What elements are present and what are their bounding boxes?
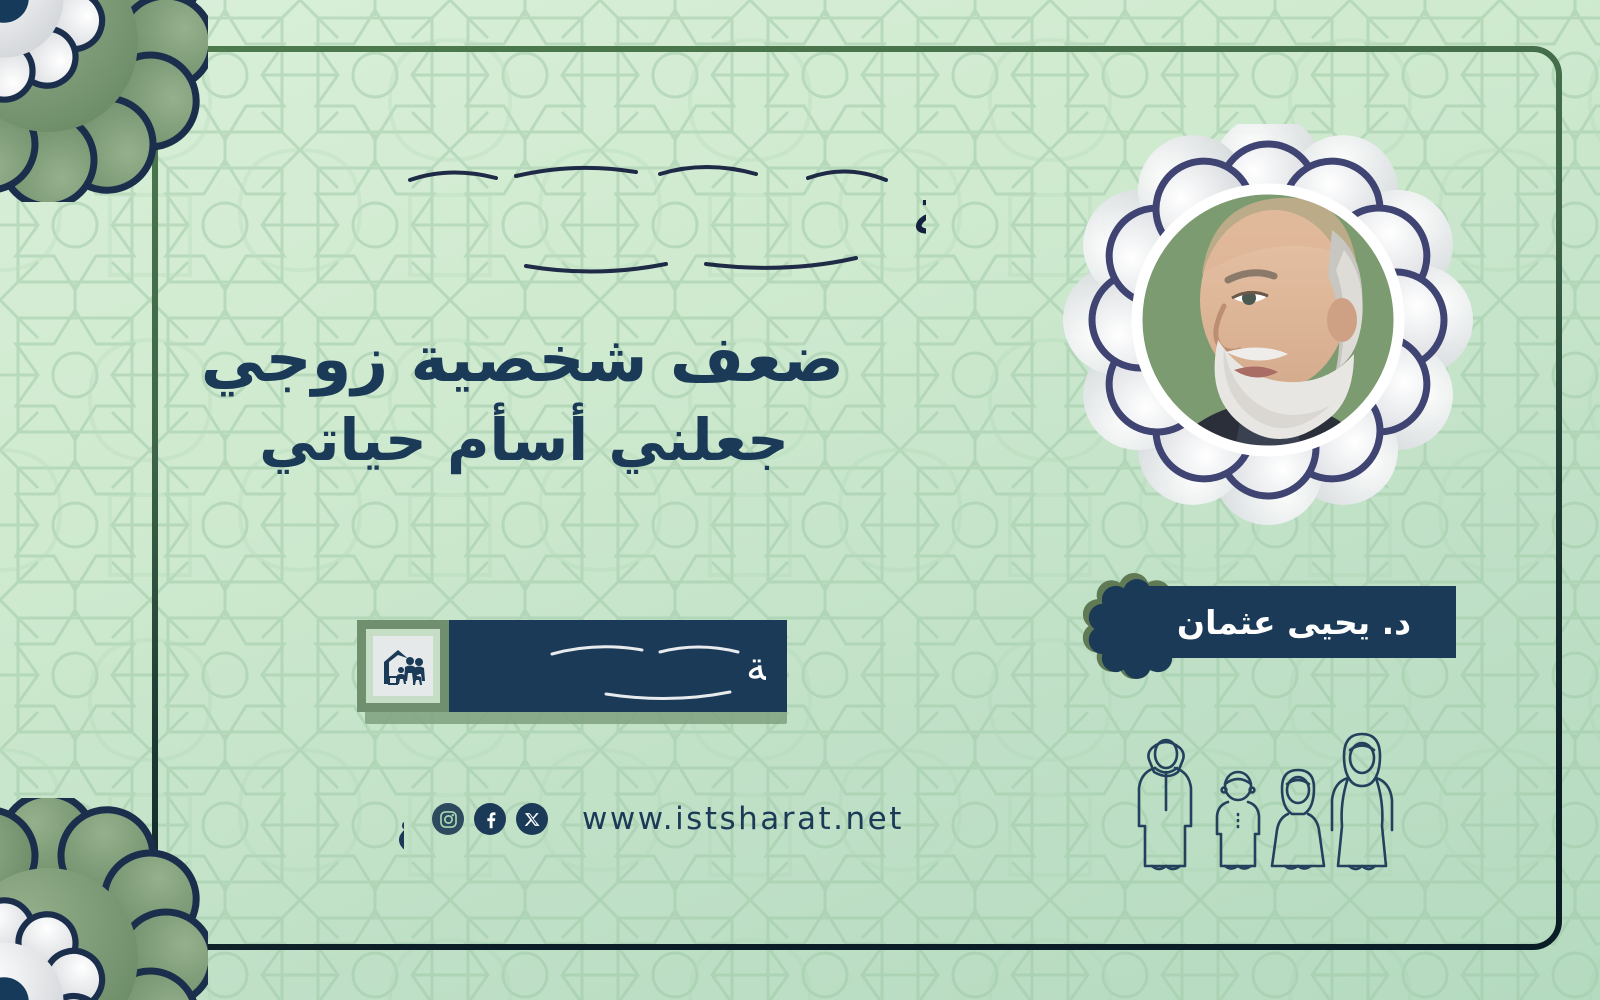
website-url[interactable]: www.istsharat.net	[582, 801, 904, 837]
footer-bar: المجتمع www.istsharat	[272, 776, 904, 862]
figure-boy	[1217, 772, 1259, 869]
portal-calligraphy-text: بوابة الاستشارات الإلكترونية	[911, 171, 926, 254]
speaker-nameplate: د. يحيى عثمان	[1078, 586, 1456, 666]
badge-icon-box	[357, 620, 449, 712]
house-family-icon	[380, 644, 426, 688]
facebook-icon[interactable]	[474, 803, 506, 835]
poster-card: بوابة الاستشارات الإلكترونية ضعف شخصية ز…	[0, 0, 1600, 1000]
family-illustration	[1130, 724, 1410, 884]
badge-label: استشارات أسرية	[746, 640, 766, 690]
nameplate-bar: د. يحيى عثمان	[1132, 586, 1456, 658]
title-line-2: جعلني أسأم حياتي	[204, 402, 844, 479]
social-links	[432, 803, 548, 835]
category-badge[interactable]: استشارات أسرية	[357, 620, 787, 720]
figure-father	[1139, 740, 1191, 869]
figure-mother	[1332, 734, 1392, 869]
main-title: ضعف شخصية زوجي جعلني أسأم حياتي	[204, 318, 844, 479]
badge-bar: استشارات أسرية	[425, 620, 787, 712]
x-twitter-icon[interactable]	[516, 803, 548, 835]
corner-flower-top-left	[0, 0, 208, 202]
mujtama-logo-text: المجتمع	[396, 793, 404, 853]
speaker-name: د. يحيى عثمان	[1177, 603, 1411, 642]
title-line-1: ضعف شخصية زوجي	[204, 318, 844, 402]
speaker-portrait	[1046, 124, 1486, 534]
instagram-icon[interactable]	[432, 803, 464, 835]
corner-flower-bottom-left	[0, 798, 208, 1000]
portal-calligraphy-heading: بوابة الاستشارات الإلكترونية	[196, 128, 926, 288]
mujtama-brand-logo: المجتمع	[272, 776, 404, 862]
figure-girl	[1272, 770, 1324, 869]
